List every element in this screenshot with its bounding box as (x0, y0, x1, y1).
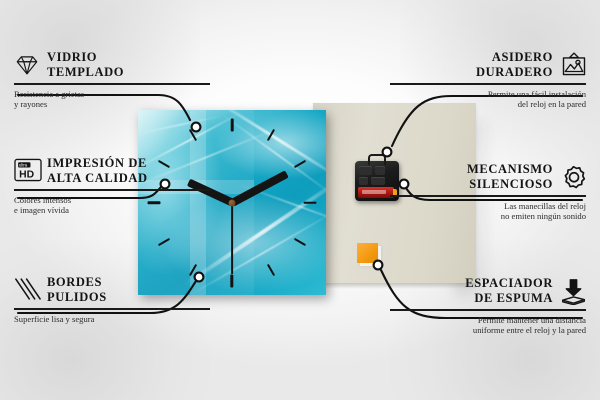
feature-description-line1: Resistencia a grietas (14, 89, 210, 100)
mechanism-detail (371, 177, 385, 185)
feature-divider (390, 83, 586, 85)
feature-impresion-alta-calidad: ultra HD IMPRESIÓN DE ALTA CALIDAD Color… (14, 156, 210, 216)
clock-tick (293, 159, 305, 167)
feature-description-line1: Las manecillas del reloj (390, 201, 586, 212)
clock-tick (293, 237, 305, 245)
mechanism-detail (375, 166, 385, 175)
feature-description-line1: Superficie lisa y segura (14, 314, 210, 325)
clock-hand-second (231, 202, 233, 274)
feature-description-line2: y rayones (14, 99, 210, 110)
feature-divider (390, 309, 586, 311)
foam-spacer (357, 243, 378, 263)
feature-bordes-pulidos: BORDES PULIDOS Superficie lisa y segura (14, 275, 210, 324)
mechanism-detail (359, 177, 368, 185)
svg-text:ultra: ultra (19, 162, 28, 167)
clock-tick (231, 118, 234, 131)
feature-description-line1: Colores intensos (14, 195, 210, 206)
feature-heading: BORDES PULIDOS (14, 275, 210, 304)
feature-heading: MECANISMO SILENCIOSO (390, 162, 586, 191)
feature-heading: VIDRIO TEMPLADO (14, 50, 210, 79)
clock-tick (304, 201, 317, 204)
feature-heading: ultra HD IMPRESIÓN DE ALTA CALIDAD (14, 156, 210, 185)
feature-title: BORDES PULIDOS (47, 275, 107, 304)
feature-heading: ASIDERO DURADERO (390, 50, 586, 79)
feature-divider (14, 83, 210, 85)
diamond-icon (14, 52, 40, 78)
feature-espaciador-de-espuma: ESPACIADOR DE ESPUMA Permite mantener un… (390, 276, 586, 336)
gear-icon (560, 164, 586, 190)
feature-divider (14, 189, 210, 191)
feature-description-line2: del reloj en la pared (390, 99, 586, 110)
feature-divider (390, 195, 586, 197)
feature-mecanismo-silencioso: MECANISMO SILENCIOSO Las manecillas del … (390, 162, 586, 222)
feature-vidrio-templado: VIDRIO TEMPLADO Resistencia a grietas y … (14, 50, 210, 110)
feature-description-line2: no emiten ningún sonido (390, 211, 586, 222)
arrow-down-onto-pad-icon (560, 278, 586, 304)
feature-title: MECANISMO SILENCIOSO (467, 162, 553, 191)
feature-asidero-duradero: ASIDERO DURADERO Permite una fácil insta… (390, 50, 586, 110)
feature-divider (14, 308, 210, 310)
svg-text:HD: HD (19, 169, 34, 180)
feature-title: IMPRESIÓN DE ALTA CALIDAD (47, 156, 148, 185)
diagonal-lines-icon (14, 277, 40, 303)
clock-tick (231, 274, 234, 287)
feature-title: ESPACIADOR DE ESPUMA (465, 276, 553, 305)
feature-description-line2: e imagen vívida (14, 205, 210, 216)
battery-label (362, 190, 386, 194)
mechanism-battery (358, 187, 394, 198)
feature-title: ASIDERO DURADERO (476, 50, 553, 79)
feature-description-line1: Permite mantener una distancia (390, 315, 586, 326)
infographic-canvas: VIDRIO TEMPLADO Resistencia a grietas y … (0, 0, 600, 400)
feature-description-line2: uniforme entre el reloj y la pared (390, 325, 586, 336)
clock-tick (267, 264, 275, 276)
mechanism-hook (368, 154, 386, 165)
ultra-hd-icon: ultra HD (14, 158, 40, 184)
picture-frame-hanger-icon (560, 52, 586, 78)
feature-heading: ESPACIADOR DE ESPUMA (390, 276, 586, 305)
feature-description-line1: Permite una fácil instalación (390, 89, 586, 100)
mechanism-detail (359, 166, 372, 175)
clock-hand-cap (229, 199, 236, 206)
feature-title: VIDRIO TEMPLADO (47, 50, 124, 79)
